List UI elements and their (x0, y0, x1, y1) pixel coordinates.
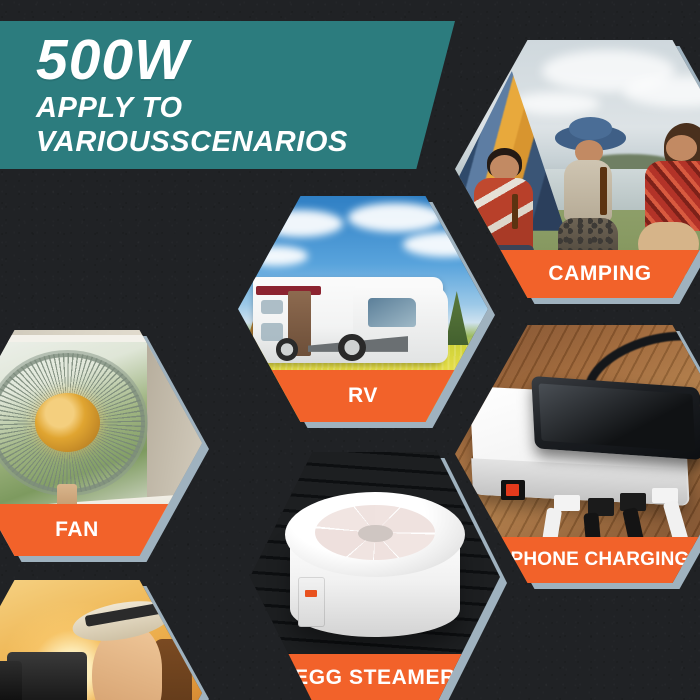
scenario-hex-camping[interactable]: CAMPING (455, 40, 700, 298)
headline-banner: 500W APPLY TO VARIOUSSCENARIOS (0, 21, 455, 169)
scenario-hex-photography[interactable] (0, 580, 202, 700)
hex-frame-fan: FAN (0, 330, 202, 556)
scenario-hex-fan[interactable]: FAN (0, 330, 202, 556)
headline-banner-text: 500W APPLY TO VARIOUSSCENARIOS (36, 29, 455, 159)
hex-frame-camping: CAMPING (455, 40, 700, 298)
scenario-hex-egg-steamer[interactable]: EGG STEAMER (250, 452, 500, 700)
headline-line-3: VARIOUSSCENARIOS (36, 125, 455, 159)
headline-line-2: APPLY TO (36, 91, 455, 125)
poster-root: 500W APPLY TO VARIOUSSCENARIOS (0, 0, 700, 700)
hex-frame-photography (0, 580, 202, 700)
scenario-hex-rv[interactable]: RV (238, 196, 488, 422)
headline-wattage: 500W (36, 29, 455, 91)
photography-photo (0, 580, 202, 700)
scenario-label-camping: CAMPING (455, 250, 700, 298)
